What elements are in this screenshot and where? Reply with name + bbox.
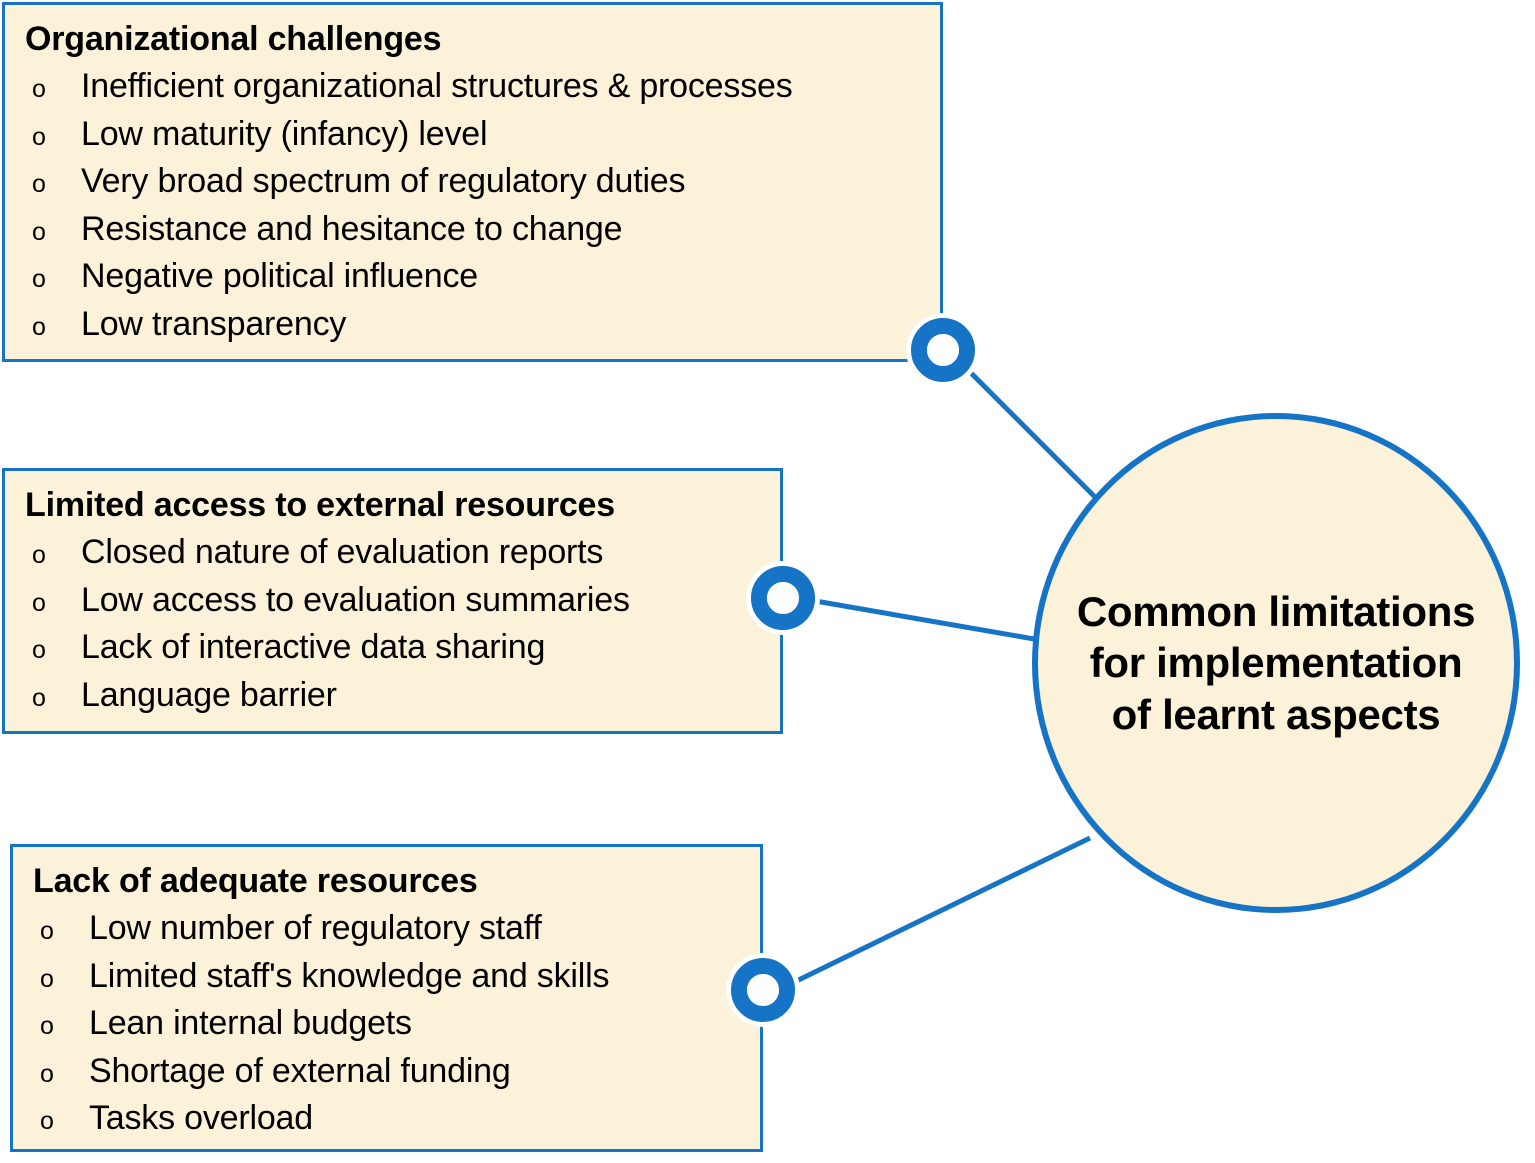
list-item-label: Limited staff's knowledge and skills (89, 953, 742, 1001)
list-item: o Low transparency (23, 301, 922, 349)
list-item: o Low maturity (infancy) level (23, 111, 922, 159)
list-item: o Resistance and hesitance to change (23, 206, 922, 254)
bullet-glyph-icon: o (23, 681, 81, 716)
list-item: o Language barrier (23, 672, 762, 720)
bullet-glyph-icon: o (31, 962, 89, 997)
panel-organizational-challenges: Organizational challenges o Inefficient … (2, 2, 943, 362)
connector-line-panel-3 (778, 838, 1090, 990)
bullet-glyph-icon: o (31, 1057, 89, 1092)
list-item-label: Low transparency (81, 301, 922, 349)
list-item: o Shortage of external funding (31, 1048, 742, 1096)
connector-line-panel-2 (798, 598, 1040, 640)
panel-limited-access-to-external-resources: Limited access to external resources o C… (2, 468, 783, 734)
panel-title: Lack of adequate resources (33, 861, 742, 901)
panel-bullet-list: o Low number of regulatory staff o Limit… (31, 905, 742, 1143)
bullet-glyph-icon: o (31, 914, 89, 949)
diagram-canvas: Organizational challenges o Inefficient … (0, 0, 1535, 1163)
list-item: o Negative political influence (23, 253, 922, 301)
list-item-label: Resistance and hesitance to change (81, 206, 922, 254)
panel-lack-of-adequate-resources: Lack of adequate resources o Low number … (10, 844, 763, 1152)
bullet-glyph-icon: o (23, 215, 81, 250)
list-item-label: Language barrier (81, 672, 762, 720)
bullet-glyph-icon: o (23, 538, 81, 573)
bullet-glyph-icon: o (23, 120, 81, 155)
list-item: o Inefficient organizational structures … (23, 63, 922, 111)
list-item: o Low number of regulatory staff (31, 905, 742, 953)
panel-title: Limited access to external resources (25, 485, 762, 525)
list-item-label: Lean internal budgets (89, 1000, 742, 1048)
panel-bullet-list: o Inefficient organizational structures … (23, 63, 922, 349)
central-hub-label: Common limitations for implementation of… (1067, 586, 1486, 740)
list-item-label: Inefficient organizational structures & … (81, 63, 922, 111)
list-item-label: Lack of interactive data sharing (81, 624, 762, 672)
panel-title: Organizational challenges (25, 19, 922, 59)
list-item-label: Low maturity (infancy) level (81, 111, 922, 159)
list-item: o Tasks overload (31, 1095, 742, 1143)
bullet-glyph-icon: o (31, 1009, 89, 1044)
panel-bullet-list: o Closed nature of evaluation reports o … (23, 529, 762, 719)
connector-node-hole (747, 974, 779, 1006)
central-hub-circle: Common limitations for implementation of… (1032, 413, 1520, 913)
connector-node-hole (927, 334, 959, 366)
list-item-label: Tasks overload (89, 1095, 742, 1143)
bullet-glyph-icon: o (23, 262, 81, 297)
list-item-label: Low access to evaluation summaries (81, 577, 762, 625)
list-item-label: Closed nature of evaluation reports (81, 529, 762, 577)
list-item: o Closed nature of evaluation reports (23, 529, 762, 577)
bullet-glyph-icon: o (23, 72, 81, 107)
connector-node-panel-3 (731, 958, 795, 1022)
list-item: o Limited staff's knowledge and skills (31, 953, 742, 1001)
list-item-label: Shortage of external funding (89, 1048, 742, 1096)
bullet-glyph-icon: o (23, 310, 81, 345)
list-item-label: Negative political influence (81, 253, 922, 301)
list-item: o Lack of interactive data sharing (23, 624, 762, 672)
connector-node-hole (767, 582, 799, 614)
bullet-glyph-icon: o (23, 167, 81, 202)
connector-node-panel-2 (751, 566, 815, 630)
connector-node-panel-1 (911, 318, 975, 382)
bullet-glyph-icon: o (31, 1104, 89, 1139)
list-item: o Lean internal budgets (31, 1000, 742, 1048)
bullet-glyph-icon: o (23, 586, 81, 621)
list-item: o Low access to evaluation summaries (23, 577, 762, 625)
list-item-label: Very broad spectrum of regulatory duties (81, 158, 922, 206)
connector-line-panel-1 (960, 362, 1096, 498)
list-item-label: Low number of regulatory staff (89, 905, 742, 953)
list-item: o Very broad spectrum of regulatory duti… (23, 158, 922, 206)
bullet-glyph-icon: o (23, 633, 81, 668)
